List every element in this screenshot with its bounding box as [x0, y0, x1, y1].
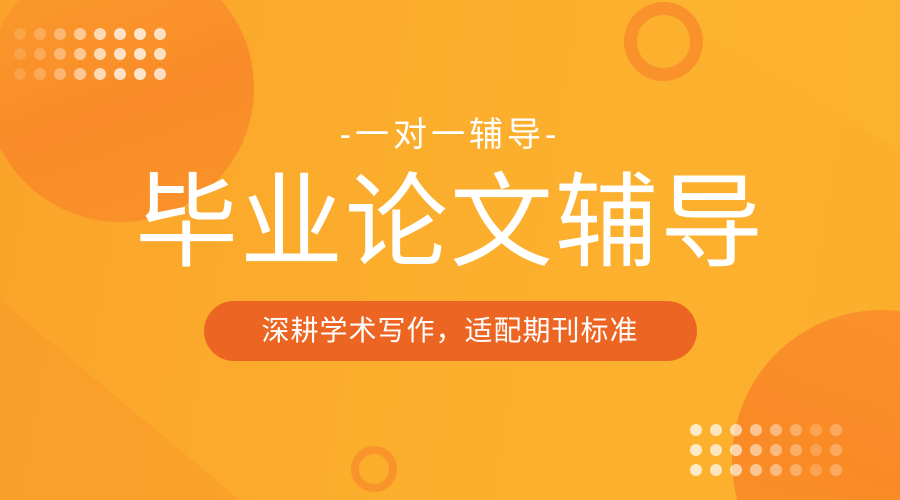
banner-eyebrow: -一对一辅导- [340, 118, 561, 152]
banner-cta-label: 深耕学术写作，适配期刊标准 [261, 317, 638, 345]
promo-banner: -一对一辅导- 毕业论文辅导 深耕学术写作，适配期刊标准 [0, 0, 900, 500]
banner-headline: 毕业论文辅导 [135, 168, 765, 277]
banner-content: -一对一辅导- 毕业论文辅导 深耕学术写作，适配期刊标准 [0, 0, 900, 500]
banner-cta-pill[interactable]: 深耕学术写作，适配期刊标准 [204, 301, 697, 361]
